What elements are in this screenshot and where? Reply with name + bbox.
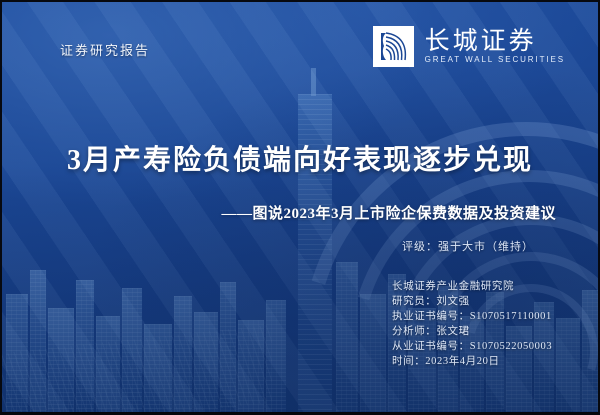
brand-name-cn: 长城证券 <box>425 29 565 54</box>
great-wall-emblem-icon <box>373 26 414 67</box>
page-subtitle: ——图说2023年3月上市险企保费数据及投资建议 <box>221 202 556 223</box>
meta-institute: 长城证券产业金融研究院 <box>392 280 552 293</box>
rating-badge: 评级：强于大市（维持） <box>402 238 534 254</box>
page-title: 3月产寿险负债端向好表现逐步兑现 <box>2 138 598 178</box>
brand-logo: 长城证券 GREAT WALL SECURITIES <box>373 26 565 67</box>
report-kicker-label: 证券研究报告 <box>60 40 150 59</box>
report-cover-page: 证券研究报告 长城证券 GREAT WALL SECURITIES 3月产寿险负… <box>0 0 600 415</box>
meta-analyst-cert: 从业证书编号：S1070522050003 <box>392 340 552 353</box>
brand-name-en: GREAT WALL SECURITIES <box>425 56 565 64</box>
report-meta-block: 长城证券产业金融研究院 研究员：刘文强 执业证书编号：S107051711000… <box>392 280 552 368</box>
meta-analyst: 分析师：张文珺 <box>392 325 552 338</box>
meta-date: 时间：2023年4月20日 <box>392 355 552 368</box>
meta-researcher-cert: 执业证书编号：S1070517110001 <box>392 310 552 323</box>
brand-logo-text: 长城证券 GREAT WALL SECURITIES <box>425 29 565 64</box>
cover-content: 证券研究报告 长城证券 GREAT WALL SECURITIES 3月产寿险负… <box>2 2 598 412</box>
meta-researcher: 研究员：刘文强 <box>392 295 552 308</box>
